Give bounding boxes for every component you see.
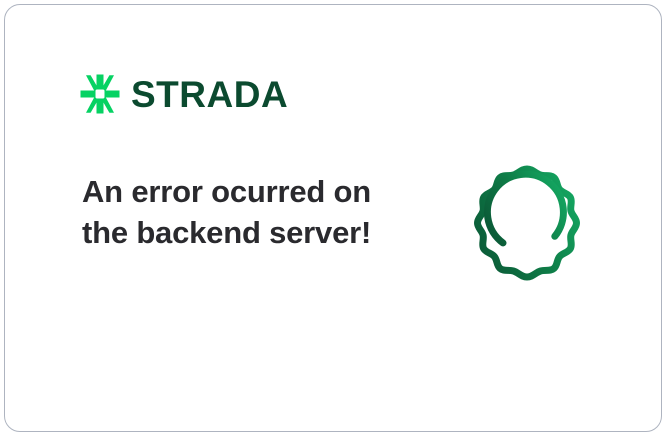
brand-logo: STRADA bbox=[79, 73, 288, 115]
error-headline: An error ocurred on the backend server! bbox=[82, 171, 382, 253]
strada-asterisk-icon bbox=[79, 73, 121, 115]
brand-wordmark: STRADA bbox=[131, 76, 288, 113]
gear-cog-icon bbox=[451, 147, 603, 299]
error-card: STRADA An error ocurred on the backend s… bbox=[4, 4, 662, 432]
